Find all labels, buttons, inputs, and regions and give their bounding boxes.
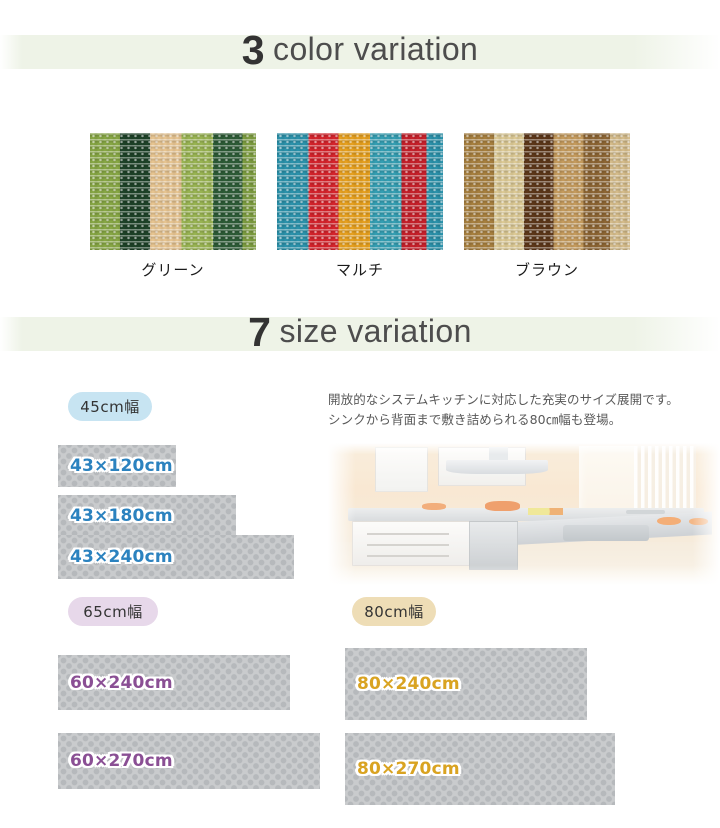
badge-80cm-label: 80cm幅	[364, 601, 423, 622]
color-variation-heading: 3 color variation	[0, 18, 720, 80]
size-description-line1: 開放的なシステムキッチンに対応した充実のサイズ展開です。	[328, 390, 720, 410]
mat-size-label: 60×270cm	[70, 751, 173, 771]
heading-title: 3 color variation	[0, 18, 720, 80]
heading-number: 3	[242, 30, 264, 71]
swatch-image-multi	[277, 133, 443, 250]
swatch-image-green	[90, 133, 256, 250]
mat-size-label: 43×240cm	[70, 547, 173, 567]
badge-45cm-label: 45cm幅	[80, 396, 139, 417]
mat-size-label: 60×240cm	[70, 673, 173, 693]
mat-bar-43x240: 43×240cm	[58, 535, 294, 579]
badge-80cm: 80cm幅	[352, 597, 436, 626]
swatch-image-brown	[464, 133, 630, 250]
swatch-label-multi: マルチ	[277, 259, 443, 280]
badge-65cm: 65cm幅	[68, 597, 158, 626]
heading-word: color variation	[273, 33, 478, 65]
size-description: 開放的なシステムキッチンに対応した充実のサイズ展開です。 シンクから背面まで敷き…	[328, 390, 720, 431]
weave-texture	[90, 133, 256, 250]
heading-title: 7 size variation	[0, 300, 720, 362]
heading-word: size variation	[279, 315, 471, 347]
kitchen-photo	[328, 443, 720, 585]
heading-number: 7	[248, 312, 270, 353]
color-swatch-green[interactable]: グリーン	[90, 133, 256, 280]
color-swatch-brown[interactable]: ブラウン	[464, 133, 630, 280]
swatch-label-green: グリーン	[90, 259, 256, 280]
weave-texture	[464, 133, 630, 250]
mat-bar-60x240: 60×240cm	[58, 655, 290, 710]
size-description-line2: シンクから背面まで敷き詰められる80㎝幅も登場。	[328, 410, 720, 430]
swatch-label-brown: ブラウン	[464, 259, 630, 280]
color-swatch-multi[interactable]: マルチ	[277, 133, 443, 280]
mat-bar-43x180: 43×180cm	[58, 495, 236, 537]
weave-texture	[277, 133, 443, 250]
mat-bar-60x270: 60×270cm	[58, 733, 320, 789]
mat-bar-80x240: 80×240cm	[345, 648, 587, 720]
mat-size-label: 80×270cm	[357, 759, 460, 779]
mat-size-label: 43×180cm	[70, 506, 173, 526]
mat-bar-43x120: 43×120cm	[58, 445, 176, 487]
mat-size-label: 80×240cm	[357, 674, 460, 694]
mat-bar-80x270: 80×270cm	[345, 733, 615, 805]
color-swatch-row: グリーン マルチ ブラウン	[0, 133, 720, 283]
badge-65cm-label: 65cm幅	[83, 601, 142, 622]
size-variation-heading: 7 size variation	[0, 300, 720, 362]
mat-size-label: 43×120cm	[70, 456, 173, 476]
badge-45cm: 45cm幅	[68, 392, 152, 421]
